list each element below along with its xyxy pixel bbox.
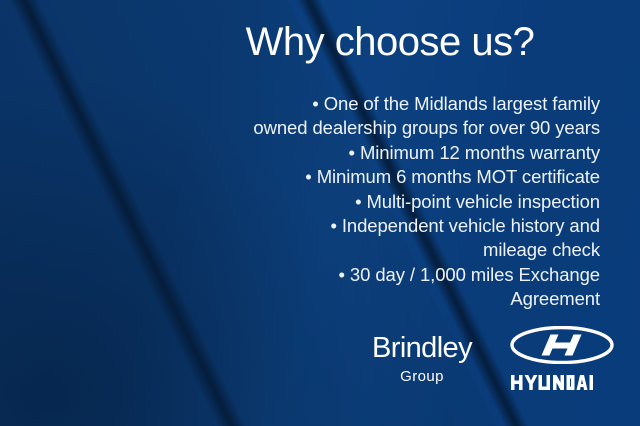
- list-item: • Minimum 12 months warranty: [180, 141, 600, 165]
- brindley-group-logo: Brindley Group: [372, 334, 492, 389]
- banner-content: Why choose us? • One of the Midlands lar…: [0, 0, 640, 426]
- logo-row: Brindley Group: [372, 326, 614, 396]
- list-item: • Multi-point vehicle inspection: [180, 190, 600, 214]
- list-item: owned dealership groups for over 90 year…: [180, 116, 600, 140]
- list-item: • Minimum 6 months MOT certificate: [180, 165, 600, 189]
- list-item: • Independent vehicle history and: [180, 214, 600, 238]
- promo-banner: Why choose us? • One of the Midlands lar…: [0, 0, 640, 426]
- banner-heading: Why choose us?: [180, 20, 600, 64]
- list-item: • 30 day / 1,000 miles Exchange: [180, 263, 600, 287]
- hyundai-logo: [492, 326, 614, 396]
- list-item: mileage check: [180, 238, 600, 262]
- hyundai-wordmark: [510, 374, 614, 396]
- hyundai-h-emblem-icon: [510, 326, 614, 369]
- list-item: Agreement: [180, 287, 600, 311]
- list-item: • One of the Midlands largest family: [180, 92, 600, 116]
- brindley-subtitle: Group: [372, 366, 472, 389]
- benefits-list: • One of the Midlands largest family own…: [180, 92, 600, 312]
- brindley-wordmark: Brindley: [372, 334, 472, 363]
